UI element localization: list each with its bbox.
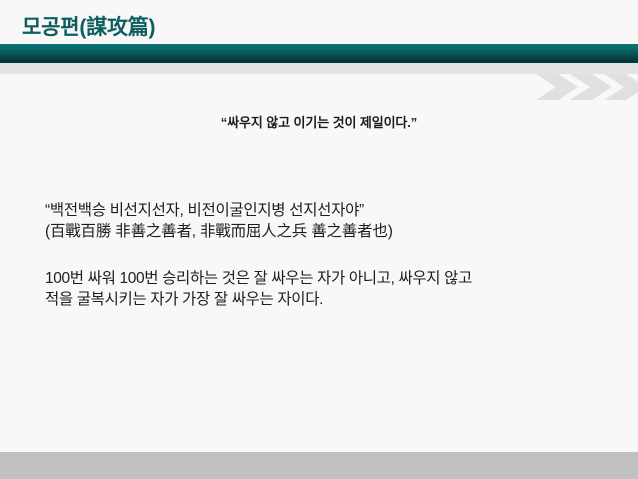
body-content: “백전백승 비선지선자, 비전이굴인지병 선지선자야” (百戰百勝 非善之善者,… (45, 200, 620, 310)
explanation-line-1: 100번 싸워 100번 승리하는 것은 잘 싸우는 자가 아니고, 싸우지 않… (45, 268, 620, 289)
chevron-svg (534, 72, 638, 102)
footer-band (0, 452, 638, 479)
headline-quote: “싸우지 않고 이기는 것이 제일이다.” (0, 112, 638, 131)
passage-hanja-original: (百戰百勝 非善之善者, 非戰而屈人之兵 善之善者也) (45, 221, 620, 242)
page-title: 모공편(謀攻篇) (22, 11, 155, 41)
explanation-paragraph: 100번 싸워 100번 승리하는 것은 잘 싸우는 자가 아니고, 싸우지 않… (45, 268, 620, 310)
slide-canvas: 모공편(謀攻篇) “싸우지 않고 이기는 것이 제일이다.” “백전백승 비선지… (0, 0, 638, 479)
title-divider-bar (0, 44, 638, 63)
passage-korean-reading: “백전백승 비선지선자, 비전이굴인지병 선지선자야” (45, 200, 620, 221)
explanation-line-2: 적을 굴복시키는 자가 가장 잘 싸우는 자이다. (45, 289, 620, 310)
triple-chevron-right-icon (534, 72, 638, 102)
